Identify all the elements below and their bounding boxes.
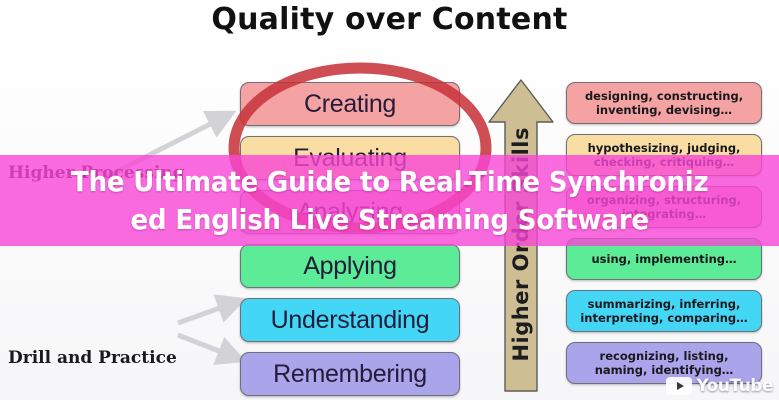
youtube-watermark: YouTube [666,376,773,396]
play-triangle-icon [666,377,692,395]
level-applying: Applying [240,244,460,288]
youtube-label: YouTube [696,376,773,396]
level-label: Remembering [273,360,427,389]
level-label: Creating [304,90,396,119]
page-title: Quality over Content [0,2,779,37]
descriptor-label: summarizing, inferring, interpreting, co… [573,297,755,325]
descriptor-label: designing, constructing, inventing, devi… [573,89,755,117]
screenshot-root: Quality over Content Higher Processing D… [0,0,779,400]
level-label: Applying [303,252,397,281]
descriptor-label: recognizing, listing, naming, identifyin… [573,349,755,377]
descriptor-creating: designing, constructing, inventing, devi… [566,82,762,124]
note-drill-and-practice: Drill and Practice [8,348,177,368]
descriptor-label: using, implementing… [592,252,737,266]
level-understanding: Understanding [240,298,460,342]
level-remembering: Remembering [240,352,460,396]
level-creating: Creating [240,82,460,126]
title-overlay-banner [0,155,779,246]
descriptor-understanding: summarizing, inferring, interpreting, co… [566,290,762,332]
level-label: Understanding [271,306,430,335]
